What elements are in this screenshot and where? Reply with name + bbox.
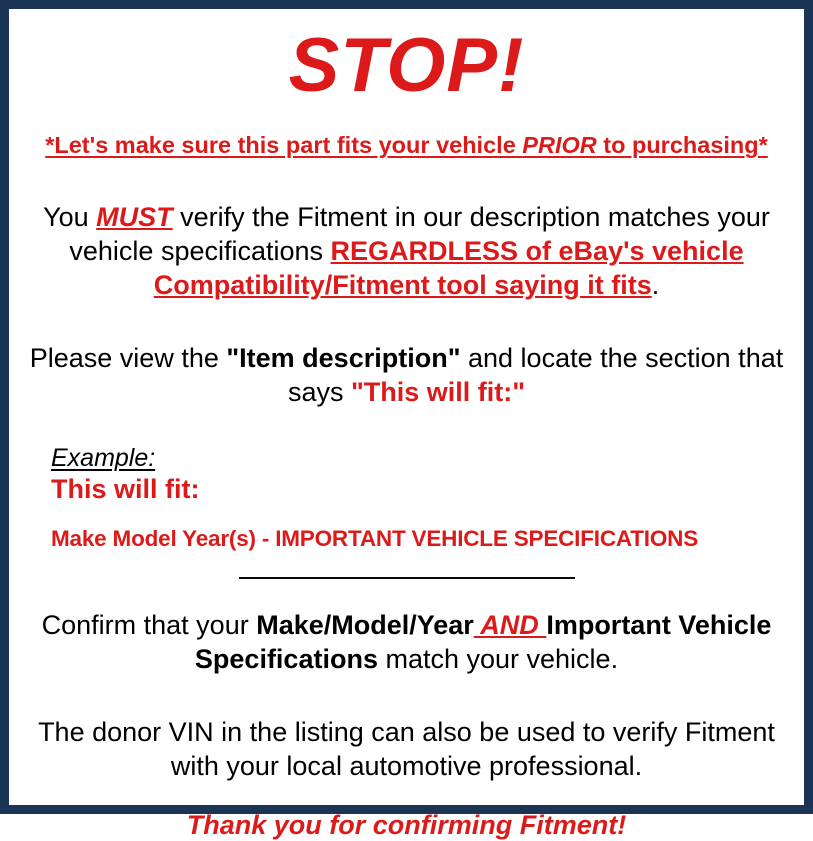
itemdesc-seg-1: Please view the [30,343,227,373]
tagline-part-2: to purchasing* [597,132,768,158]
confirm-seg-1: Confirm that your [42,610,257,640]
tagline-prior-emphasis: PRIOR [522,132,596,158]
paragraph-donor-vin: The donor VIN in the listing can also be… [9,715,804,783]
item-description-emphasis: "Item description" [226,343,460,373]
example-block: Example: This will fit: Make Model Year(… [9,445,804,551]
make-model-year-emphasis: Make/Model/Year [256,610,474,640]
horizontal-rule [239,577,575,579]
this-will-fit-emphasis: "This will fit:" [351,377,525,407]
example-spec-line: Make Model Year(s) - IMPORTANT VEHICLE S… [51,526,804,552]
paragraph-confirm: Confirm that your Make/Model/Year AND Im… [9,608,804,676]
fitment-notice-card: STOP! *Let's make sure this part fits yo… [0,0,813,814]
example-this-will-fit: This will fit: [51,474,804,504]
confirm-seg-2: match your vehicle. [378,644,618,674]
paragraph-must-verify: You MUST verify the Fitment in our descr… [9,200,804,302]
tagline-part-1: *Let's make sure this part fits your veh… [45,132,522,158]
divider-container [9,577,804,589]
must-seg-3: . [652,270,660,300]
stop-headline: STOP! [9,28,804,104]
and-emphasis: AND [474,610,547,640]
must-emphasis: MUST [96,202,173,232]
paragraph-item-description: Please view the "Item description" and l… [9,341,804,409]
must-seg-1: You [43,202,96,232]
example-label: Example: [51,445,804,471]
fitment-tagline: *Let's make sure this part fits your veh… [9,131,804,159]
